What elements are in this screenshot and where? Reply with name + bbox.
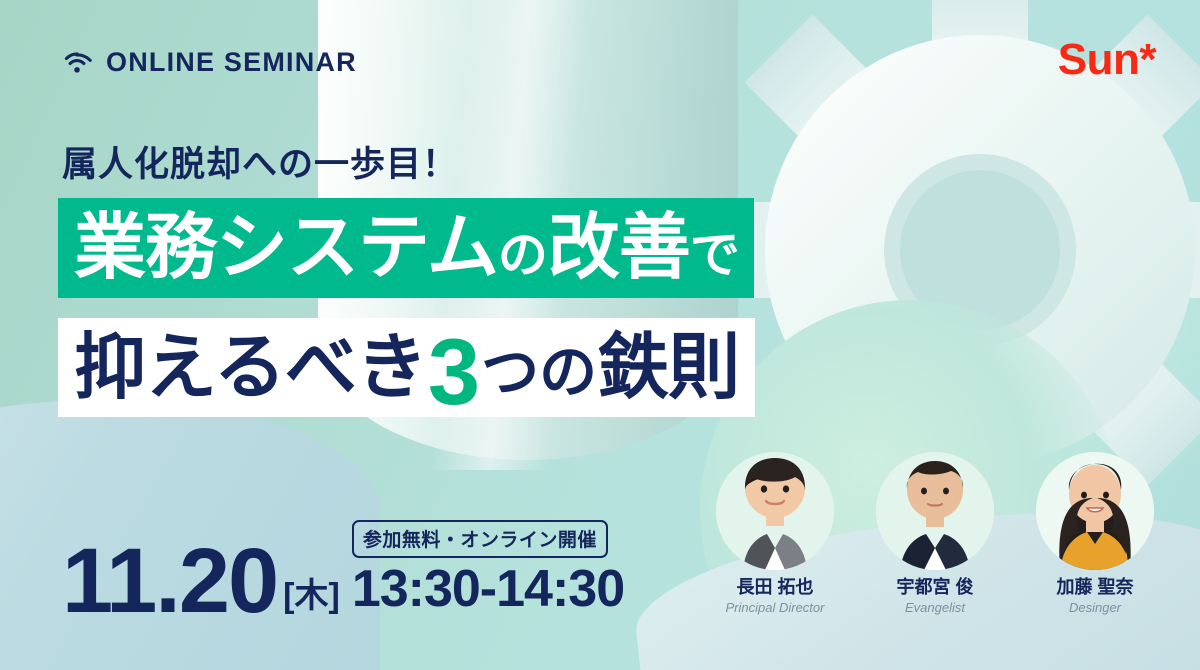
online-seminar-label: ONLINE SEMINAR [106,47,357,78]
headline-band-white: 抑えるべき 3 つ の 鉄則 [58,318,755,417]
speaker-photo-icon [1036,452,1154,570]
headline-line1-main: 業務システム [74,212,498,284]
speaker-role: Desinger [1024,601,1166,615]
free-online-badge: 参加無料・オンライン開催 [352,520,608,558]
wifi-icon [62,50,92,76]
seminar-banner: ONLINE SEMINAR Sun* 属人化脱却への一歩目！ 業務システム の… [0,0,1200,670]
speaker-name: 加藤 聖奈 [1024,578,1166,598]
avatar [716,452,834,570]
speaker-card: 加藤 聖奈 Desinger [1024,452,1166,615]
seminar-date: 11.20 [62,539,277,624]
headline-line2-particle2: の [539,344,597,402]
avatar [876,452,994,570]
headline-line2-main: 抑えるべき [74,332,427,404]
speaker-name: 宇都宮 俊 [864,578,1006,598]
time-column: 参加無料・オンライン開催 13:30-14:30 [342,520,624,624]
headline-line2-main2: 鉄則 [597,332,739,404]
headline-line1-main2: 改善 [548,212,690,284]
headline-number-three: 3 [428,325,480,419]
headline-line2-particle: つ [481,344,539,402]
speaker-photo-icon [876,452,994,570]
headline-band-green: 業務システム の 改善 で [58,198,754,298]
speaker-role: Principal Director [704,601,846,615]
headline-line1-particle2: で [690,230,740,280]
speaker-role: Evangelist [864,601,1006,615]
speaker-card: 長田 拓也 Principal Director [704,452,846,615]
speaker-list: 長田 拓也 Principal Director 宇都宮 俊 [704,452,1166,615]
speaker-name: 長田 拓也 [704,578,846,598]
speaker-photo-icon [716,452,834,570]
headline-kicker: 属人化脱却への一歩目！ [62,136,458,187]
speaker-card: 宇都宮 俊 Evangelist [864,452,1006,615]
seminar-day-of-week: [木] [277,579,342,624]
seminar-time: 13:30-14:30 [352,563,624,624]
schedule-block: 11.20 [木] 参加無料・オンライン開催 13:30-14:30 [62,520,624,624]
headline-line1-particle: の [498,230,548,280]
avatar [1036,452,1154,570]
sun-brand-logo: Sun* [1058,38,1156,82]
header-online-seminar: ONLINE SEMINAR [62,47,357,78]
